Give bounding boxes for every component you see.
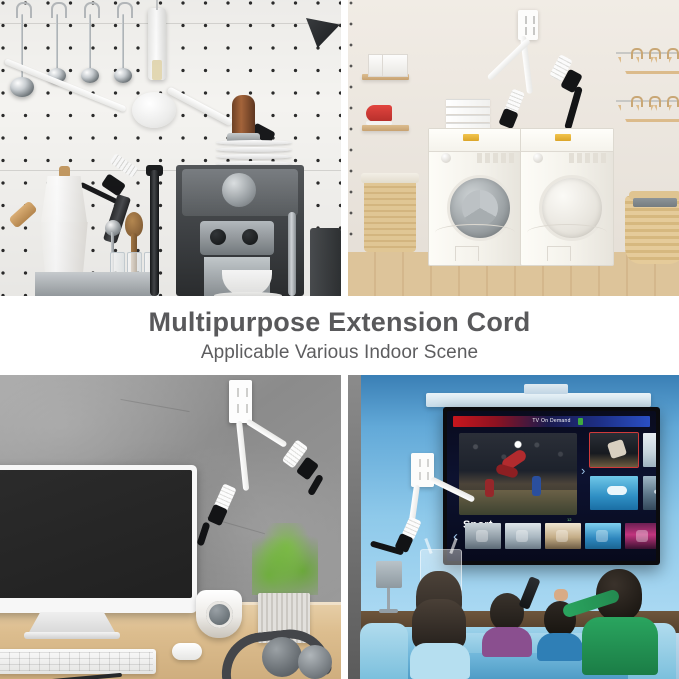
lamp-base	[379, 609, 398, 613]
wall-mounted-tv[interactable]: TV On Demand Sport 12 › ›	[443, 407, 660, 565]
dryer-dial[interactable]	[533, 153, 543, 163]
outlet-socket	[525, 27, 535, 35]
tv-top-bar-label: TV On Demand	[532, 417, 570, 426]
tv-tile-swimming[interactable]: Swimming	[590, 476, 638, 510]
monitor-screen	[0, 470, 192, 598]
tile-thumbnail	[556, 530, 568, 542]
sofa-arm	[360, 623, 408, 679]
storage-box	[368, 54, 408, 77]
tv-tile-cooking[interactable]: Cooking	[465, 523, 501, 549]
person-body	[537, 633, 583, 661]
headphones	[214, 625, 332, 679]
tile-thumbnail	[636, 530, 648, 542]
dryer-buttons[interactable]	[569, 153, 607, 163]
pitch-turf	[459, 490, 577, 515]
red-shoe	[366, 105, 392, 122]
keyboard-keys	[0, 652, 153, 671]
wall-outlet[interactable]	[229, 380, 252, 423]
wicker-basket	[625, 196, 679, 264]
dryer-kickplate	[547, 246, 571, 261]
outlet-socket	[525, 16, 535, 24]
panel-kitchen	[0, 0, 341, 296]
tile-thumbnail	[516, 530, 528, 542]
wood-shelf	[362, 125, 409, 131]
panel-desk	[0, 375, 341, 679]
washer-drum	[462, 190, 498, 226]
washer-kickplate	[455, 246, 479, 261]
headphone-earcup	[262, 637, 302, 677]
outlet-socket	[419, 459, 429, 467]
laundry-scene	[348, 0, 679, 296]
tv-tile-travel[interactable]: Travel	[505, 523, 541, 549]
tile-thumbnail	[653, 486, 656, 494]
headline: Multipurpose Extension Cord	[149, 308, 531, 336]
tile-thumbnail	[607, 486, 627, 495]
product-collage: Multipurpose Extension Cord Applicable V…	[0, 0, 679, 679]
outlet-socket	[419, 472, 429, 480]
washer-buttons[interactable]	[477, 153, 515, 163]
projector-valance	[426, 393, 651, 407]
computer-mouse[interactable]	[172, 643, 202, 660]
table-lamp	[376, 561, 402, 588]
monitor-stand-neck	[28, 612, 116, 634]
tv-tile-music[interactable]: Music	[625, 523, 656, 549]
speaker-cone	[206, 601, 233, 628]
caption-block: Multipurpose Extension Cord Applicable V…	[0, 296, 679, 375]
player-figure	[485, 479, 494, 497]
washer-dial[interactable]	[441, 153, 451, 163]
person-body	[482, 627, 532, 657]
person-body	[582, 617, 658, 675]
tv-screen[interactable]: TV On Demand Sport 12 › ›	[447, 411, 656, 561]
washer-trim	[435, 224, 515, 241]
tv-tile-cycling[interactable]: Cycling	[643, 433, 656, 467]
clothes-dryer	[520, 128, 614, 266]
desk-scene	[0, 375, 341, 679]
computer-keyboard[interactable]	[0, 649, 156, 674]
washing-machine	[428, 128, 522, 266]
chevron-right-icon[interactable]: ›	[581, 464, 585, 477]
valance-housing	[524, 384, 568, 394]
outlet-socket	[237, 404, 248, 413]
panel-living-room: TV On Demand Sport 12 › ›	[348, 375, 679, 679]
tv-tile-athletics[interactable]: Athletics	[590, 433, 638, 467]
potted-plant	[252, 523, 318, 595]
lamp-stem	[387, 588, 390, 610]
washer-display	[463, 134, 479, 141]
outlet-socket	[237, 388, 248, 397]
tv-tile-rowing[interactable]: Rowing	[643, 476, 656, 510]
folded-towels	[446, 99, 490, 129]
tile-thumbnail	[596, 530, 608, 542]
living-room-scene: TV On Demand Sport 12 › ›	[348, 375, 679, 679]
person-body	[410, 643, 470, 679]
subheadline: Applicable Various Indoor Scene	[201, 343, 478, 363]
player-figure	[532, 476, 541, 496]
tv-tile-family[interactable]: Family	[585, 523, 621, 549]
tv-hero-badge: 12	[567, 517, 571, 522]
tv-tile-culture[interactable]: Culture	[545, 523, 581, 549]
monitor-stand-base	[24, 632, 120, 639]
kitchen-scene	[0, 0, 341, 296]
tv-hero-tile[interactable]	[459, 433, 577, 515]
wooden-hanger	[654, 54, 679, 72]
tv-top-bar: TV On Demand	[453, 416, 650, 427]
tile-thumbnail	[476, 530, 488, 542]
tv-status-dot	[578, 418, 583, 425]
tile-thumbnail	[607, 439, 627, 459]
wooden-hanger	[654, 102, 679, 120]
scene-shading	[0, 0, 341, 296]
basket-liner	[633, 198, 677, 207]
person-head	[490, 593, 524, 631]
headphone-earcup	[298, 645, 332, 679]
wicker-hamper	[364, 180, 416, 252]
adjacent-pegboard-edge	[348, 0, 356, 252]
dryer-trim	[527, 224, 607, 241]
panel-laundry	[348, 0, 679, 296]
dryer-display	[555, 134, 571, 141]
computer-monitor	[0, 465, 197, 613]
person-hand	[554, 589, 568, 601]
